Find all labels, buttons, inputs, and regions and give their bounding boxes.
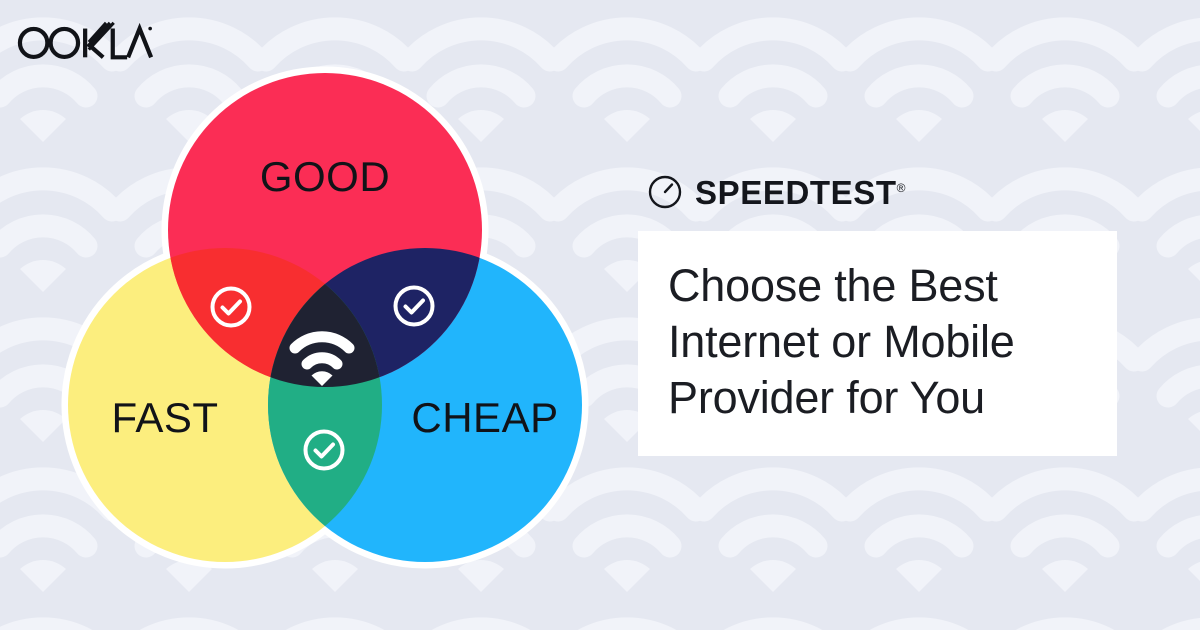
speedtest-registered-mark: ® [897, 181, 906, 195]
venn-label-cheap: CHEAP [411, 394, 558, 441]
ookla-logo[interactable] [14, 18, 154, 60]
speedtest-logo[interactable]: SPEEDTEST® [648, 170, 1138, 214]
headline-line-3: Provider for You [668, 372, 985, 423]
speedometer-icon [648, 175, 682, 209]
headline-card: Choose the Best Internet or Mobile Provi… [638, 231, 1117, 456]
venn-label-fast: FAST [111, 394, 218, 441]
page-title: Choose the Best Internet or Mobile Provi… [668, 258, 1087, 425]
right-column: SPEEDTEST® Choose the Best Internet or M… [638, 170, 1138, 456]
ookla-registered-mark [148, 27, 152, 31]
venn-label-good: GOOD [260, 153, 390, 200]
speedtest-wordmark: SPEEDTEST® [695, 176, 905, 209]
headline-line-1: Choose the Best [668, 260, 998, 311]
social-card: GOOD FAST CHEAP [0, 0, 1200, 630]
headline-line-2: Internet or Mobile [668, 316, 1015, 367]
venn-diagram: GOOD FAST CHEAP [40, 50, 610, 590]
speedtest-wordmark-text: SPEEDTEST [695, 174, 897, 211]
